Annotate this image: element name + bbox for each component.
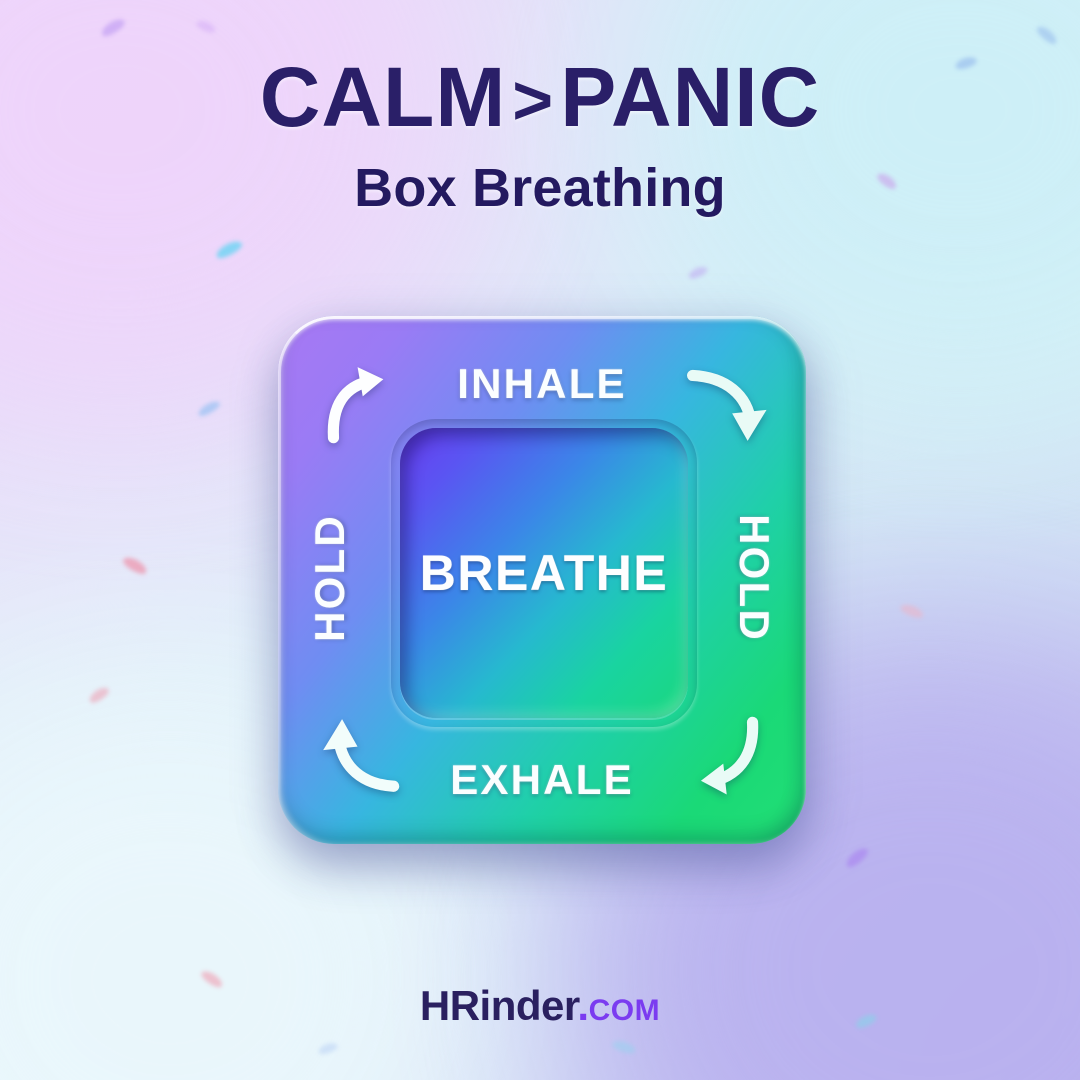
logo-brand-text: HRinder xyxy=(420,982,578,1029)
logo-tld-text: COM xyxy=(589,994,661,1027)
confetti-petal xyxy=(687,264,709,280)
page-subtitle: Box Breathing xyxy=(0,157,1080,219)
page-title: CALM>PANIC xyxy=(0,52,1080,143)
box-breathing-diagram: INHALE EXHALE HOLD HOLD xyxy=(278,316,806,844)
title-left-word: CALM xyxy=(260,50,507,144)
arrow-bottom-right-icon xyxy=(682,712,768,798)
confetti-petal xyxy=(899,602,925,620)
edge-label-hold-right: HOLD xyxy=(730,468,778,688)
edge-label-hold-left: HOLD xyxy=(306,468,354,688)
breathe-label: BREATHE xyxy=(420,544,668,602)
confetti-petal xyxy=(1035,23,1060,46)
confetti-petal xyxy=(99,16,127,39)
confetti-petal xyxy=(195,18,217,34)
arrow-top-right-icon xyxy=(684,360,770,446)
arrow-top-left-icon xyxy=(318,362,404,448)
brand-logo[interactable]: HRinder.COM xyxy=(0,982,1080,1030)
confetti-petal xyxy=(844,845,871,870)
box-inner-well: BREATHE xyxy=(400,428,688,718)
confetti-petal xyxy=(214,238,244,261)
poster-canvas: CALM>PANIC Box Breathing INHALE EXHALE H… xyxy=(0,0,1080,1080)
arrow-bottom-left-icon xyxy=(318,714,404,800)
confetti-petal xyxy=(87,685,111,706)
confetti-petal xyxy=(121,554,149,577)
logo-dot: . xyxy=(577,982,588,1029)
confetti-petal xyxy=(611,1039,637,1056)
heading-group: CALM>PANIC Box Breathing xyxy=(0,52,1080,219)
confetti-petal xyxy=(317,1041,339,1056)
confetti-petal xyxy=(196,399,221,419)
title-right-word: PANIC xyxy=(560,50,820,144)
greater-than-icon: > xyxy=(506,61,560,139)
footer: HRinder.COM xyxy=(0,982,1080,1030)
